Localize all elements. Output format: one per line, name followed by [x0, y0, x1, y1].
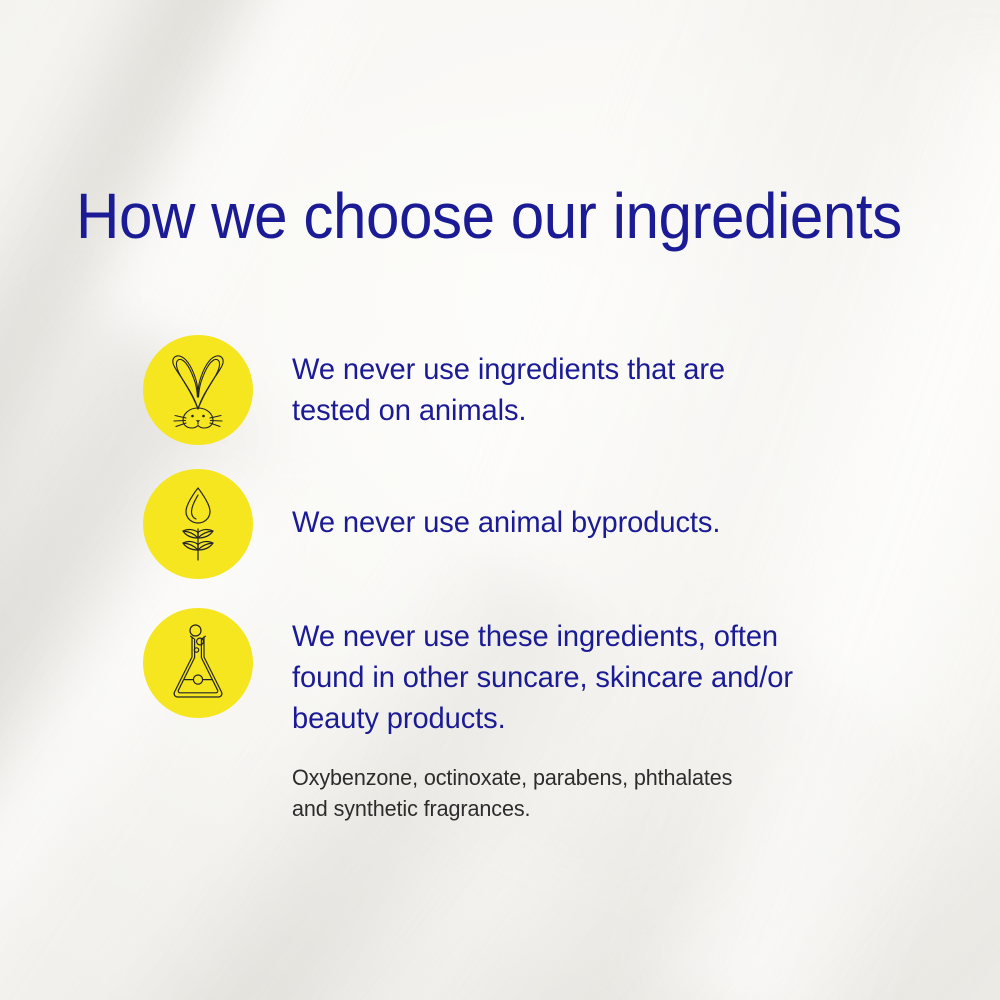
- plant-droplet-icon: [167, 486, 229, 562]
- note-line: Oxybenzone, octinoxate, parabens, phthal…: [292, 762, 841, 793]
- claim-line: tested on animals.: [292, 390, 835, 431]
- flask-bubbles-icon: [168, 623, 228, 703]
- claim-line: We never use these ingredients, often: [292, 616, 893, 657]
- claim-line: beauty products.: [292, 698, 893, 739]
- ingredient-philosophy-poster: How we choose our ingredients: [0, 0, 1000, 1000]
- badge-cruelty-free: [143, 335, 253, 445]
- badge-plant-based: [143, 469, 253, 579]
- bunny-heart-ears-icon: [162, 351, 234, 429]
- page-title: How we choose our ingredients: [76, 184, 902, 248]
- badge-no-bad-chemicals: [143, 608, 253, 718]
- claim-line: We never use ingredients that are: [292, 349, 835, 390]
- poster-content: How we choose our ingredients: [0, 0, 1000, 1000]
- ingredient-exclusion-note: Oxybenzone, octinoxate, parabens, phthal…: [292, 762, 841, 824]
- claim-line: found in other suncare, skincare and/or: [292, 657, 893, 698]
- claim-text: We never use these ingredients, often fo…: [292, 616, 893, 739]
- claim-text: We never use ingredients that are tested…: [292, 349, 835, 431]
- note-line: and synthetic fragrances.: [292, 793, 841, 824]
- claim-text: We never use animal byproducts.: [292, 502, 835, 543]
- claim-line: We never use animal byproducts.: [292, 502, 835, 543]
